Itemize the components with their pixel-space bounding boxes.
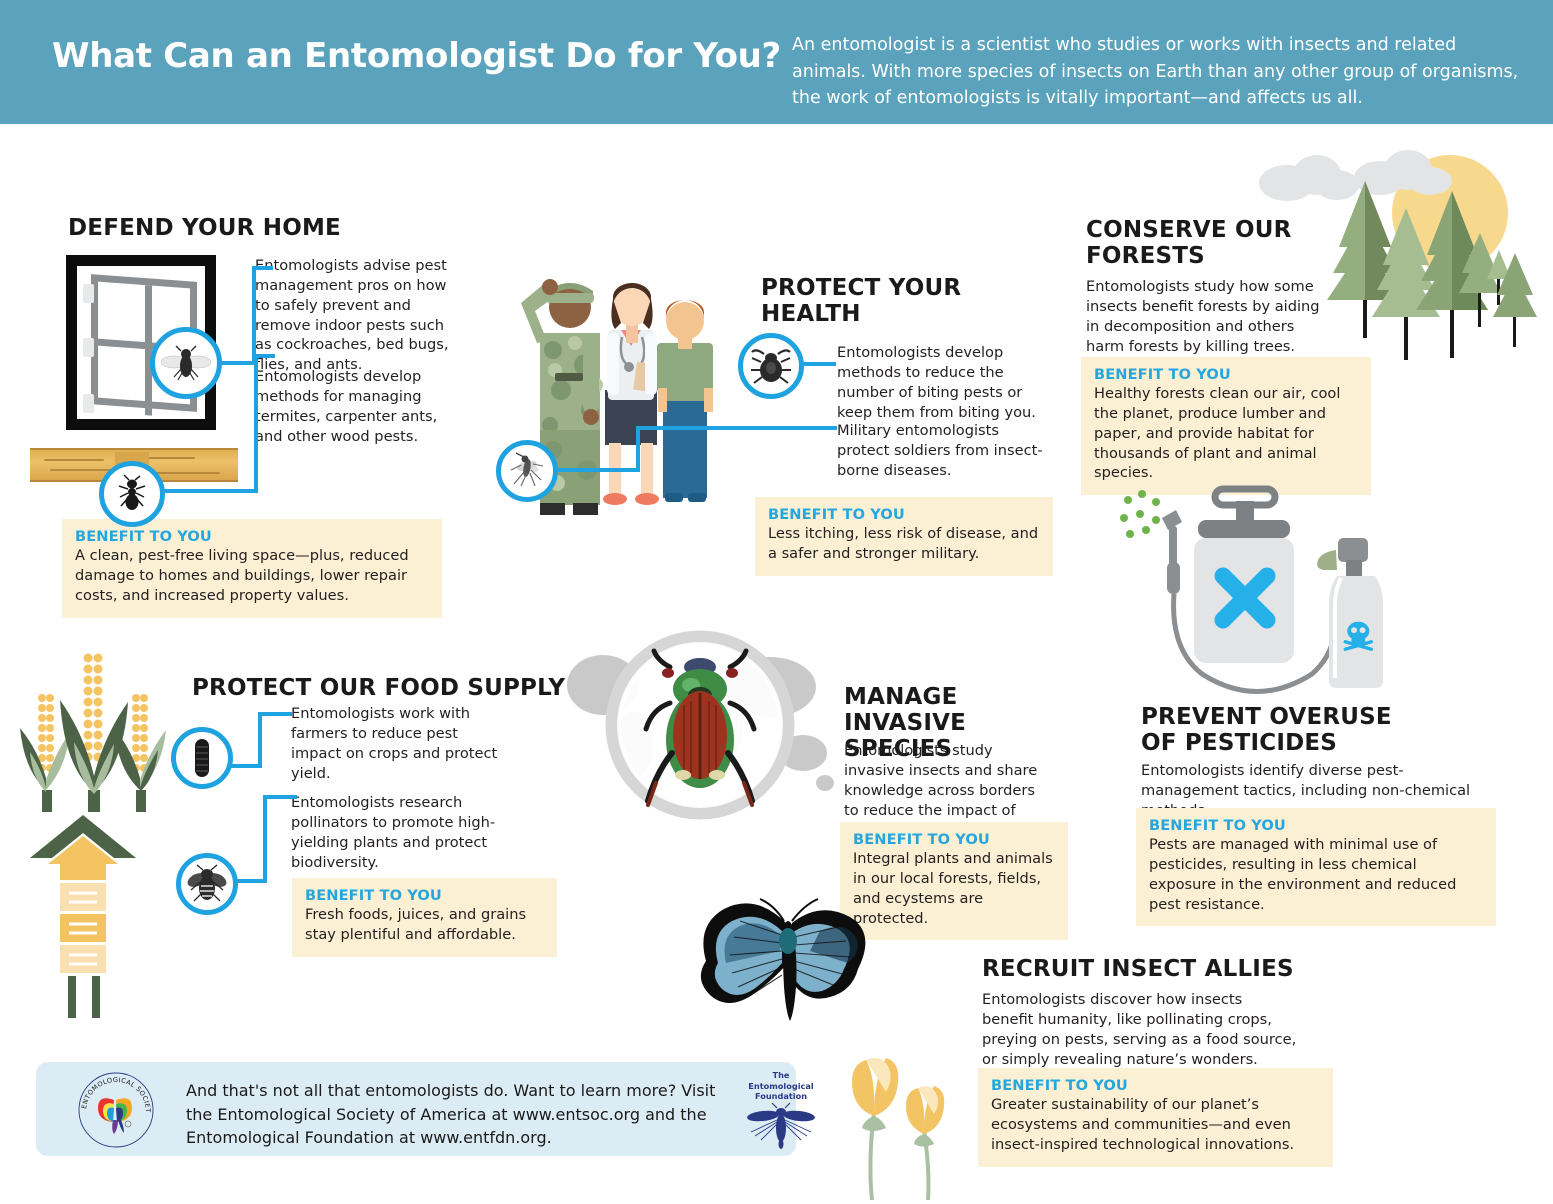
- cloud-shape: [1259, 150, 1452, 201]
- beehive: [30, 815, 136, 1018]
- benefit-text-food-supply: Fresh foods, juices, and grains stay ple…: [305, 905, 544, 945]
- benefit-box-food-supply: BENEFIT TO YOU Fresh foods, juices, and …: [292, 878, 557, 957]
- leader-line-tick: [800, 362, 836, 368]
- ef-line-3: Foundation: [741, 1091, 821, 1102]
- flower-right: [906, 1086, 944, 1147]
- benefit-box-insect-allies: BENEFIT TO YOU Greater sustainability of…: [978, 1068, 1333, 1167]
- section-title-pesticides: PREVENT OVERUSE OF PESTICIDES: [1141, 705, 1431, 757]
- ef-moth-icon: [741, 1102, 821, 1150]
- caterpillar-icon: [171, 727, 233, 789]
- leader-line-fly: [218, 266, 273, 366]
- flower-left: [852, 1058, 898, 1131]
- section-title-food-supply: PROTECT OUR FOOD SUPPLY: [192, 676, 565, 702]
- corn-stalks: [20, 654, 166, 813]
- flower-illustration: [830, 1050, 965, 1200]
- footer-bar: ENTOMOLOGICAL SOCIETY OF AMERICA And tha…: [36, 1062, 796, 1156]
- callout-text-health-1: Entomologists develop methods to reduce …: [837, 343, 1055, 422]
- leader-line-caterpillar: [230, 712, 292, 772]
- callout-text-food-2: Entomologists research pollinators to pr…: [291, 793, 516, 872]
- callout-text-health-2: Military entomologists protect soldiers …: [837, 421, 1052, 481]
- header-subtitle: An entomologist is a scientist who studi…: [792, 32, 1532, 112]
- section-title-defend-home: DEFEND YOUR HOME: [68, 216, 341, 242]
- esa-logo: ENTOMOLOGICAL SOCIETY OF AMERICA: [76, 1070, 156, 1150]
- leader-line-bee: [235, 795, 297, 887]
- header-banner: What Can an Entomologist Do for You? An …: [0, 0, 1553, 124]
- benefit-label: BENEFIT TO YOU: [1094, 366, 1358, 383]
- leader-line-mosquito: [554, 426, 837, 476]
- benefit-label: BENEFIT TO YOU: [853, 831, 1055, 848]
- callout-text-defend-2: Entomologists develop methods for managi…: [255, 367, 467, 446]
- ant-icon: [99, 461, 165, 527]
- infographic-canvas: What Can an Entomologist Do for You? An …: [0, 0, 1553, 1200]
- page-title: What Can an Entomologist Do for You?: [52, 36, 781, 76]
- spray-droplets: [1120, 490, 1160, 538]
- benefit-box-defend-home: BENEFIT TO YOU A clean, pest-free living…: [62, 519, 442, 618]
- ef-line-1: The: [741, 1070, 821, 1081]
- benefit-box-pesticides: BENEFIT TO YOU Pests are managed with mi…: [1136, 808, 1496, 926]
- fly-icon: [150, 327, 222, 399]
- benefit-label: BENEFIT TO YOU: [305, 887, 544, 904]
- body-text-insect-allies: Entomologists discover how insects benef…: [982, 990, 1297, 1069]
- callout-text-defend-1: Entomologists advise pest management pro…: [255, 256, 460, 375]
- forest-illustration: [1245, 145, 1553, 360]
- callout-text-food-1: Entomologists work with farmers to reduc…: [291, 704, 506, 783]
- benefit-label: BENEFIT TO YOU: [75, 528, 429, 545]
- benefit-text-insect-allies: Greater sustainability of our planet’s e…: [991, 1095, 1320, 1155]
- benefit-text-defend-home: A clean, pest-free living space—plus, re…: [75, 546, 429, 606]
- corn-and-beehive-illustration: [6, 640, 206, 1045]
- benefit-label: BENEFIT TO YOU: [768, 506, 1040, 523]
- benefit-label: BENEFIT TO YOU: [1149, 817, 1483, 834]
- butterfly-illustration: [700, 895, 885, 1055]
- globe-beetle-illustration: [555, 625, 845, 830]
- mosquito-icon: [496, 440, 558, 502]
- footer-text: And that's not all that entomologists do…: [186, 1079, 726, 1150]
- ef-line-2: Entomological: [741, 1081, 821, 1092]
- benefit-text-pesticides: Pests are managed with minimal use of pe…: [1149, 835, 1483, 914]
- benefit-label: BENEFIT TO YOU: [991, 1077, 1320, 1094]
- section-title-protect-health: PROTECT YOUR HEALTH: [761, 276, 991, 328]
- pesticide-sprayer-illustration: [1110, 468, 1415, 703]
- svg-text:ENTOMOLOGICAL SOCIETY OF AMERI: ENTOMOLOGICAL SOCIETY OF AMERICA: [76, 1070, 152, 1113]
- section-title-insect-allies: RECRUIT INSECT ALLIES: [982, 957, 1294, 983]
- tick-icon: [738, 333, 804, 399]
- entomological-foundation-logo: The Entomological Foundation: [741, 1070, 821, 1150]
- benefit-box-protect-health: BENEFIT TO YOU Less itching, less risk o…: [755, 497, 1053, 576]
- bee-icon: [176, 853, 238, 915]
- benefit-text-protect-health: Less itching, less risk of disease, and …: [768, 524, 1040, 564]
